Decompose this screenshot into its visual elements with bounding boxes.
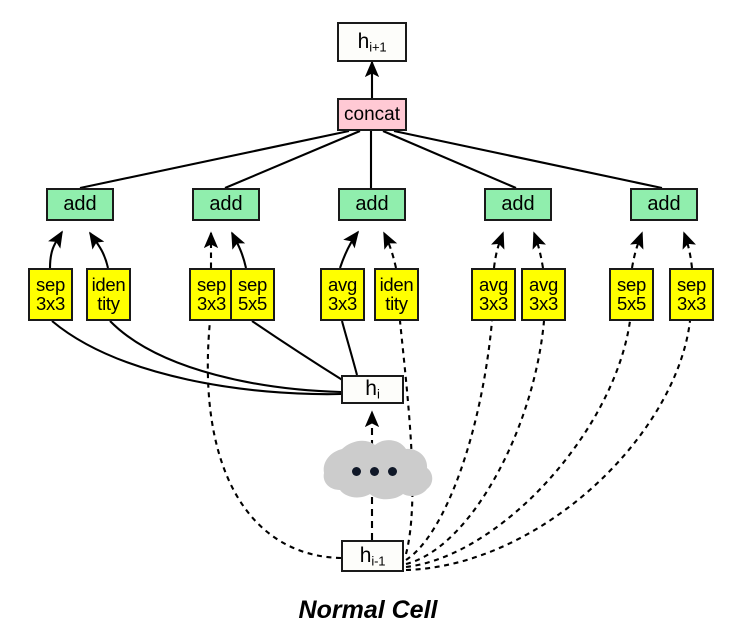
op-line1: sep [238,276,267,295]
add-label: add [63,194,96,214]
edge-op10-to-add5 [684,233,692,268]
op-line1: sep [36,276,65,295]
add-node-1[interactable]: add [46,188,114,221]
edge-hi-to-op4 [252,321,344,381]
add-label: add [647,194,680,214]
edge-op8-to-add4 [534,233,543,268]
op-line2: 3x3 [529,295,558,314]
edge-op2-to-add2 [90,233,108,268]
edge-add5-to-concat [394,131,662,188]
edge-add4-to-concat [383,131,516,188]
add-label: add [501,194,534,214]
edge-hi-to-op5 [342,321,357,375]
op-line2: 3x3 [479,295,508,314]
concat-node[interactable]: concat [337,98,407,131]
add-node-2[interactable]: add [192,188,260,221]
op-node-9[interactable]: sep 5x5 [609,268,654,321]
op-line1: sep [617,276,646,295]
op-line1: sep [677,276,706,295]
op-node-2[interactable]: iden tity [86,268,131,321]
add-node-3[interactable]: add [338,188,406,221]
op-line2: 3x3 [677,295,706,314]
normal-cell-diagram: hi+1 concat add add add add add sep 3x3 … [0,0,736,639]
edge-op5-to-add3 [340,232,358,268]
op-line1: iden [92,276,126,295]
op-node-4[interactable]: sep 5x5 [230,268,275,321]
op-node-3[interactable]: sep 3x3 [189,268,234,321]
add-label: add [355,194,388,214]
edge-hprev-to-op6 [400,321,412,554]
edge-op4-to-add2 [232,233,246,268]
op-line1: avg [479,276,508,295]
edge-hprev-to-op8 [406,321,544,564]
op-line1: avg [328,276,357,295]
edge-hprev-to-op9 [406,321,630,567]
edge-hi-to-op1 [52,321,341,394]
op-line2: 5x5 [617,295,646,314]
diagram-caption: Normal Cell [0,596,736,625]
op-node-10[interactable]: sep 3x3 [669,268,714,321]
edge-op1-to-add1 [50,232,62,268]
edge-hprev-to-op10 [406,321,690,570]
op-line1: sep [197,276,226,295]
edge-add2-to-concat [225,131,360,188]
input-current-label: hi [365,378,379,401]
output-label: hi+1 [358,31,387,54]
edge-hprev-to-op3 [208,321,341,558]
output-node: hi+1 [337,22,407,62]
op-line2: 3x3 [36,295,65,314]
edge-add1-to-concat [80,131,349,188]
op-node-1[interactable]: sep 3x3 [28,268,73,321]
input-current-node: hi [341,375,404,404]
op-node-5[interactable]: avg 3x3 [320,268,365,321]
add-label: add [209,194,242,214]
op-line1: avg [529,276,558,295]
op-line1: iden [380,276,414,295]
op-node-7[interactable]: avg 3x3 [471,268,516,321]
concat-label: concat [344,105,400,124]
op-line2: 3x3 [328,295,357,314]
op-line2: tity [385,295,407,314]
add-node-5[interactable]: add [630,188,698,221]
op-line2: 3x3 [197,295,226,314]
edge-op9-to-add5 [632,233,642,268]
cloud-ellipsis [352,467,397,476]
op-line2: tity [97,295,119,314]
op-line2: 5x5 [238,295,267,314]
add-node-4[interactable]: add [484,188,552,221]
input-previous-node: hi-1 [341,540,404,572]
edge-op7-to-add4 [494,233,503,268]
input-previous-label: hi-1 [360,545,386,568]
edge-op6-to-add3 [384,233,396,268]
edge-hprev-to-op7 [406,321,492,560]
op-node-6[interactable]: iden tity [374,268,419,321]
op-node-8[interactable]: avg 3x3 [521,268,566,321]
